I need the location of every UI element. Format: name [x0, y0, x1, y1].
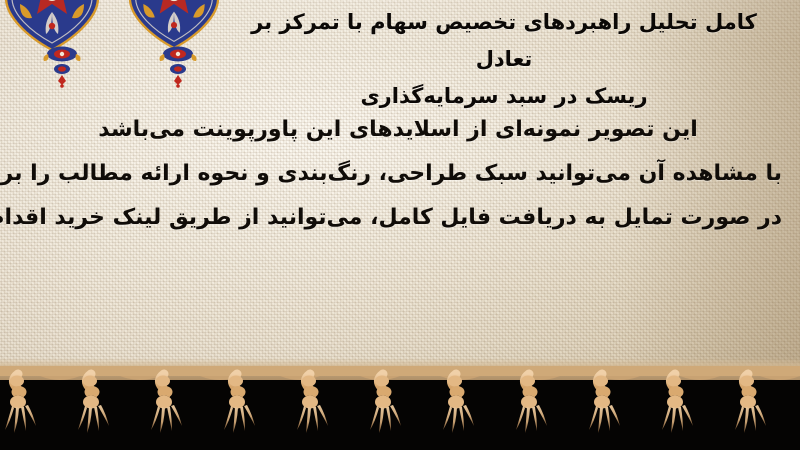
presentation-slide: کامل تحلیل راهبردهای تخصیص سهام با تمرکز… [0, 0, 800, 450]
slide-title: کامل تحلیل راهبردهای تخصیص سهام با تمرکز… [234, 4, 774, 115]
slide-title-line-1: کامل تحلیل راهبردهای تخصیص سهام با تمرکز… [251, 10, 757, 71]
black-lower-band [0, 374, 800, 450]
body-line-1: این تصویر نمونه‌ای از اسلایدهای این پاور… [14, 108, 782, 152]
slide-title-line-2: ریسک در سبد سرمایه‌گذاری [360, 84, 647, 108]
body-line-3: در صورت تمایل به دریافت فایل کامل، می‌تو… [14, 196, 782, 240]
body-line-2: با مشاهده آن می‌توانید سبک طراحی، رنگ‌بن… [14, 152, 782, 196]
slide-body-text: این تصویر نمونه‌ای از اسلایدهای این پاور… [14, 108, 782, 240]
